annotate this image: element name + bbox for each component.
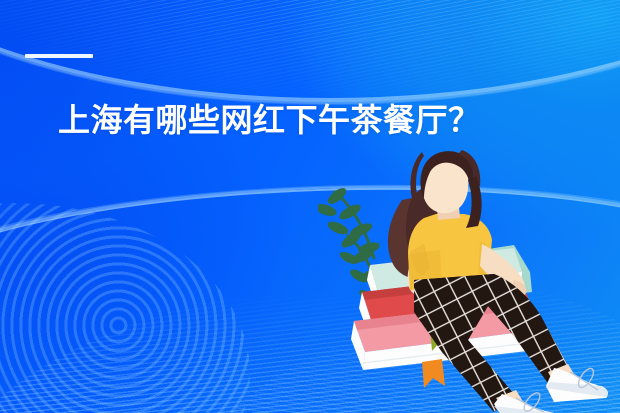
decorative-rule: [25, 54, 93, 58]
article-cover-banner: 上海有哪些网红下午茶餐厅？: [0, 0, 620, 413]
bookmark-orange: [422, 359, 445, 388]
illustration-woman-on-books: [318, 140, 620, 413]
page-title: 上海有哪些网红下午茶餐厅？: [58, 101, 528, 139]
sneaker-upper: [546, 366, 608, 402]
